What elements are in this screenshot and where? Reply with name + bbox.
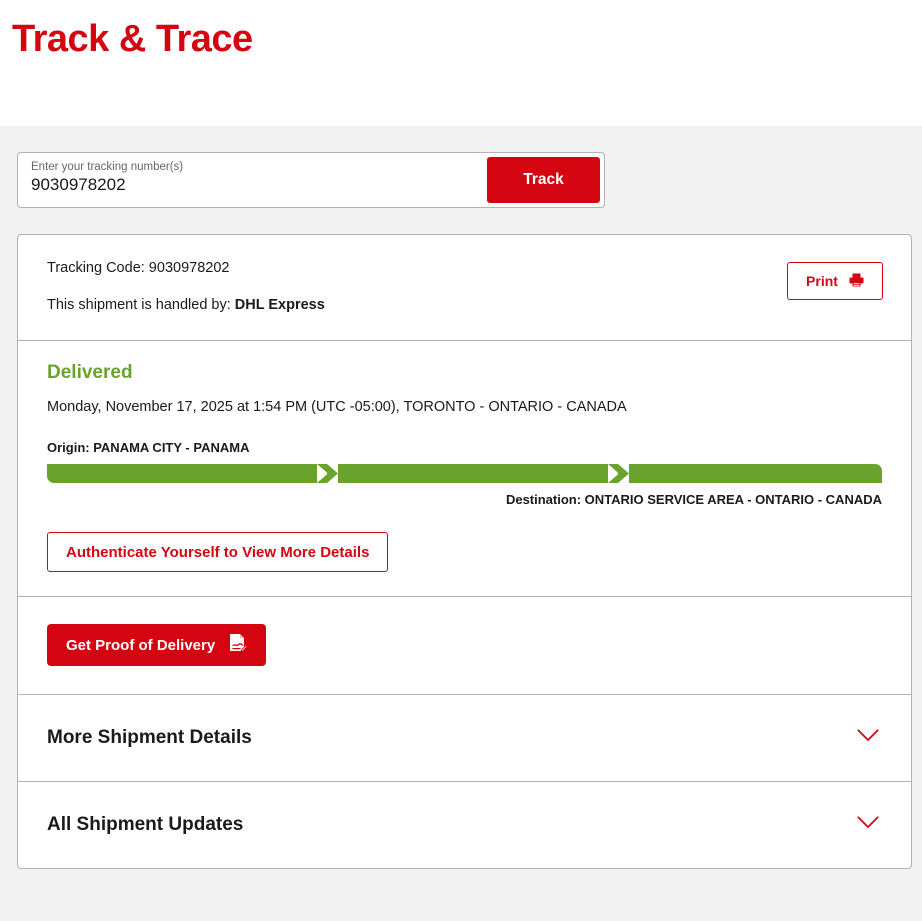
proof-of-delivery-section: Get Proof of Delivery bbox=[18, 597, 911, 694]
authenticate-button[interactable]: Authenticate Yourself to View More Detai… bbox=[47, 532, 388, 572]
chevron-down-icon[interactable] bbox=[857, 816, 879, 834]
accordion-all-shipment-updates[interactable]: All Shipment Updates bbox=[18, 782, 911, 868]
shipment-summary-section: Tracking Code: 9030978202 This shipment … bbox=[18, 235, 911, 340]
progress-arrow-icon bbox=[618, 464, 629, 483]
search-input-label: Enter your tracking number(s) bbox=[31, 160, 475, 174]
shipment-status-section: Delivered Monday, November 17, 2025 at 1… bbox=[18, 341, 911, 596]
search-field-wrapper: Enter your tracking number(s) bbox=[18, 153, 487, 207]
tracking-search-box[interactable]: Enter your tracking number(s) Track bbox=[17, 152, 605, 208]
progress-segment bbox=[47, 464, 327, 483]
handled-by-prefix: This shipment is handled by: bbox=[47, 297, 231, 313]
progress-notch bbox=[317, 464, 328, 483]
progress-arrow-icon bbox=[327, 464, 338, 483]
search-row: Enter your tracking number(s) Track bbox=[0, 126, 912, 208]
page-header: Track & Trace bbox=[0, 0, 922, 126]
print-button-label: Print bbox=[806, 273, 838, 289]
shipment-summary-text: Tracking Code: 9030978202 This shipment … bbox=[47, 259, 787, 314]
progress-segment bbox=[629, 464, 882, 483]
destination-label: Destination: ONTARIO SERVICE AREA - ONTA… bbox=[47, 492, 882, 508]
print-button[interactable]: Print bbox=[787, 262, 883, 300]
page-body: Enter your tracking number(s) Track Trac… bbox=[0, 126, 922, 921]
tracking-result-card: Tracking Code: 9030978202 This shipment … bbox=[17, 234, 912, 869]
accordion-title: More Shipment Details bbox=[47, 727, 252, 749]
pod-button-label: Get Proof of Delivery bbox=[66, 637, 215, 654]
handled-by-line: This shipment is handled by: DHL Express bbox=[47, 296, 787, 314]
tracking-code-line: Tracking Code: 9030978202 bbox=[47, 259, 787, 277]
status-title: Delivered bbox=[47, 361, 882, 385]
shipment-progress-bar bbox=[47, 464, 882, 483]
accordion-more-shipment-details[interactable]: More Shipment Details bbox=[18, 695, 911, 781]
track-button[interactable]: Track bbox=[487, 157, 600, 203]
tracking-number-input[interactable] bbox=[31, 174, 475, 195]
progress-segment bbox=[338, 464, 618, 483]
page-title: Track & Trace bbox=[10, 10, 922, 68]
carrier-name: DHL Express bbox=[235, 297, 325, 313]
origin-label: Origin: PANAMA CITY - PANAMA bbox=[47, 440, 882, 456]
printer-icon bbox=[849, 273, 864, 290]
get-proof-of-delivery-button[interactable]: Get Proof of Delivery bbox=[47, 624, 266, 666]
accordion-title: All Shipment Updates bbox=[47, 814, 243, 836]
progress-notch bbox=[608, 464, 619, 483]
status-datetime: Monday, November 17, 2025 at 1:54 PM (UT… bbox=[47, 398, 882, 416]
chevron-down-icon[interactable] bbox=[857, 729, 879, 747]
document-signature-icon bbox=[229, 633, 248, 657]
